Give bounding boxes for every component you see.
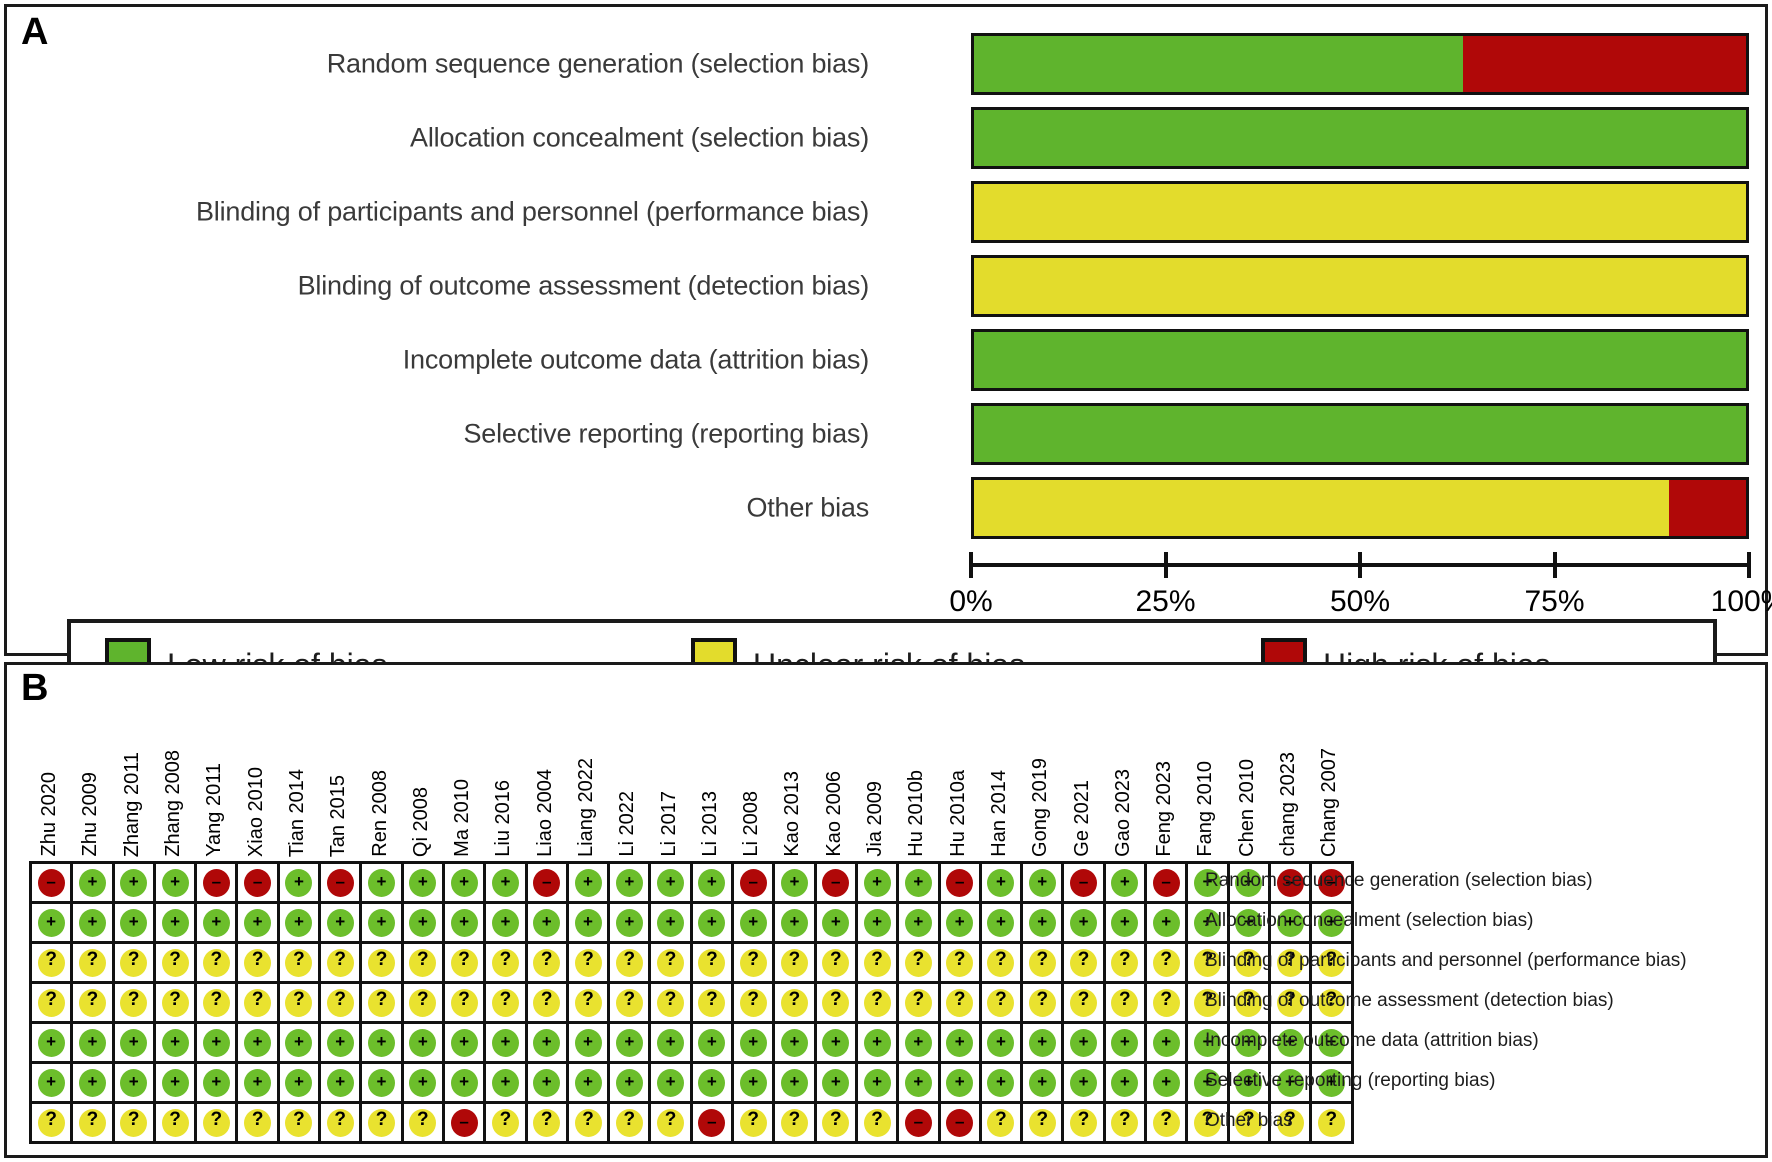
study-header-label: Yang 2011 [203,763,226,857]
matrix-cell[interactable]: – [197,864,238,904]
matrix-cell[interactable]: + [486,1064,527,1104]
matrix-cell[interactable]: + [899,864,940,904]
matrix-cell[interactable]: + [693,864,734,904]
matrix-cell[interactable]: + [115,904,156,944]
matrix-cell[interactable]: + [1064,904,1105,944]
matrix-cell[interactable]: + [32,904,73,944]
risk-glyph: ? [252,990,264,1009]
bar-track [971,255,1749,317]
matrix-cell[interactable]: + [486,904,527,944]
matrix-cell[interactable]: + [651,1064,692,1104]
risk-glyph: – [831,873,840,890]
matrix-cell[interactable]: ? [734,944,775,984]
risk-glyph: – [955,1113,964,1130]
matrix-cell[interactable]: ? [817,984,858,1024]
matrix-cell[interactable]: ? [1023,984,1064,1024]
matrix-cell[interactable]: ? [404,984,445,1024]
risk-dot-high: – [946,1109,973,1137]
matrix-cell[interactable]: + [238,904,279,944]
risk-dot-unclear: ? [575,949,602,977]
risk-glyph: + [624,913,634,930]
matrix-cell[interactable]: + [858,1064,899,1104]
risk-dot-low: + [905,909,932,937]
matrix-cell[interactable]: ? [404,944,445,984]
risk-glyph: ? [45,1110,57,1129]
bar-category-label: Allocation concealment (selection bias) [410,123,869,154]
risk-glyph: + [748,1033,758,1050]
matrix-cell[interactable]: ? [1106,1104,1147,1144]
risk-glyph: + [707,1073,717,1090]
matrix-cell[interactable]: + [982,904,1023,944]
risk-dot-high: – [1153,869,1180,897]
matrix-cell[interactable]: ? [569,984,610,1024]
matrix-cell[interactable]: ? [321,944,362,984]
matrix-cell[interactable]: + [610,1024,651,1064]
matrix-cell[interactable]: – [32,864,73,904]
risk-dot-low: + [162,1069,189,1097]
matrix-cell[interactable]: + [362,904,403,944]
risk-glyph: ? [417,990,429,1009]
risk-glyph: ? [417,950,429,969]
matrix-cell[interactable]: + [445,864,486,904]
matrix-cell[interactable]: + [73,1064,114,1104]
matrix-cell[interactable]: + [156,864,197,904]
risk-dot-low: + [368,1069,395,1097]
matrix-cell[interactable]: + [73,904,114,944]
matrix-cell[interactable]: + [693,1024,734,1064]
risk-dot-low: + [1111,1029,1138,1057]
matrix-cell[interactable]: + [899,1064,940,1104]
risk-dot-unclear: ? [244,989,271,1017]
study-header-label: Gong 2019 [1029,758,1052,857]
matrix-cell[interactable]: ? [486,1104,527,1144]
matrix-cell[interactable]: + [280,864,321,904]
matrix-cell[interactable]: ? [486,984,527,1024]
risk-dot-unclear: ? [905,989,932,1017]
matrix-cell[interactable]: + [651,864,692,904]
matrix-cell[interactable]: + [197,1064,238,1104]
risk-dot-unclear: ? [657,949,684,977]
risk-glyph: ? [913,950,925,969]
matrix-cell[interactable]: + [610,904,651,944]
matrix-cell[interactable]: + [775,1024,816,1064]
matrix-cell[interactable]: ? [941,944,982,984]
matrix-cell[interactable]: + [569,1064,610,1104]
risk-dot-low: + [781,869,808,897]
matrix-cell[interactable]: ? [775,984,816,1024]
risk-dot-low: + [162,909,189,937]
matrix-cell[interactable]: ? [899,984,940,1024]
risk-dot-low: + [1153,1069,1180,1097]
matrix-cell[interactable]: + [362,1024,403,1064]
matrix-cell[interactable]: + [115,864,156,904]
matrix-cell[interactable]: ? [362,1104,403,1144]
matrix-cell[interactable]: ? [73,984,114,1024]
matrix-cell[interactable]: + [404,904,445,944]
risk-dot-low: + [327,909,354,937]
risk-glyph: + [872,873,882,890]
risk-dot-low: + [616,869,643,897]
matrix-cell[interactable]: + [73,864,114,904]
risk-glyph: ? [665,1110,677,1129]
matrix-cell[interactable]: + [651,1024,692,1064]
risk-dot-low: + [492,1069,519,1097]
risk-dot-unclear: ? [905,949,932,977]
matrix-cell[interactable]: ? [32,984,73,1024]
risk-glyph: ? [1119,990,1131,1009]
matrix-cell[interactable]: – [941,1104,982,1144]
matrix-cell[interactable]: – [321,864,362,904]
matrix-cell[interactable]: – [734,864,775,904]
risk-glyph: ? [376,950,388,969]
matrix-cell[interactable]: ? [1106,984,1147,1024]
matrix-cell[interactable]: + [775,904,816,944]
matrix-cell[interactable]: ? [32,1104,73,1144]
risk-dot-unclear: ? [822,989,849,1017]
matrix-cell[interactable]: + [73,1024,114,1064]
matrix-cell[interactable]: – [941,864,982,904]
risk-glyph: + [955,1033,965,1050]
matrix-cell[interactable]: + [445,904,486,944]
risk-dot-unclear: ? [987,1109,1014,1137]
risk-dot-unclear: ? [38,1109,65,1137]
matrix-cell[interactable]: + [1106,864,1147,904]
risk-glyph: ? [252,950,264,969]
matrix-cell[interactable]: ? [1147,1104,1188,1144]
matrix-cell[interactable]: ? [528,944,569,984]
matrix-cell[interactable]: + [1023,904,1064,944]
matrix-cell[interactable]: ? [651,984,692,1024]
risk-dot-low: + [822,1069,849,1097]
matrix-cell[interactable]: + [1147,1064,1188,1104]
matrix-cell[interactable]: ? [651,1104,692,1144]
matrix-cell[interactable]: + [238,1024,279,1064]
risk-dot-unclear: ? [327,1109,354,1137]
matrix-cell[interactable]: + [115,1024,156,1064]
risk-dot-low: + [616,909,643,937]
risk-glyph: ? [45,990,57,1009]
matrix-cell[interactable]: + [32,1064,73,1104]
matrix-cell[interactable]: + [404,1024,445,1064]
bar-category-label: Blinding of outcome assessment (detectio… [298,271,869,302]
risk-glyph: ? [623,1110,635,1129]
matrix-cell[interactable]: ? [280,1104,321,1144]
risk-dot-low: + [905,1069,932,1097]
matrix-cell[interactable]: + [569,864,610,904]
bar-track [971,181,1749,243]
matrix-cell[interactable]: + [528,1024,569,1064]
risk-dot-unclear: ? [616,1109,643,1137]
matrix-cell[interactable]: ? [651,944,692,984]
matrix-cell[interactable]: + [280,1024,321,1064]
risk-glyph: ? [417,1110,429,1129]
matrix-cell[interactable]: + [817,1024,858,1064]
matrix-cell[interactable]: ? [115,1104,156,1144]
risk-dot-low: + [203,1069,230,1097]
risk-glyph: + [129,913,139,930]
risk-glyph: ? [87,950,99,969]
matrix-cell[interactable]: + [404,864,445,904]
study-header: Liang 2022 [566,689,607,857]
matrix-cell[interactable]: – [693,1104,734,1144]
matrix-cell[interactable]: + [321,904,362,944]
risk-dot-unclear: ? [1070,949,1097,977]
study-header: Zhu 2009 [70,689,111,857]
matrix-cell[interactable]: ? [197,944,238,984]
study-header-label: Zhang 2011 [121,752,144,857]
matrix-cell[interactable]: ? [899,944,940,984]
matrix-cell[interactable]: + [651,904,692,944]
matrix-cell[interactable]: + [486,1024,527,1064]
risk-glyph: ? [87,1110,99,1129]
domain-row-label: Allocation concealment (selection bias) [1205,901,1687,941]
matrix-cell[interactable]: ? [734,1104,775,1144]
matrix-cell[interactable]: + [1064,1024,1105,1064]
risk-dot-unclear: ? [1153,1109,1180,1137]
matrix-cell[interactable]: + [899,1024,940,1064]
matrix-cell[interactable]: + [197,904,238,944]
risk-glyph: + [790,913,800,930]
matrix-cell[interactable]: ? [528,1104,569,1144]
matrix-cell[interactable]: ? [817,944,858,984]
matrix-cell[interactable]: ? [445,944,486,984]
matrix-cell[interactable]: ? [693,984,734,1024]
risk-glyph: ? [169,1110,181,1129]
matrix-cell[interactable]: + [858,1024,899,1064]
risk-dot-low: + [368,1029,395,1057]
matrix-cell[interactable]: ? [238,944,279,984]
risk-dot-unclear: ? [203,989,230,1017]
risk-dot-low: + [698,869,725,897]
study-header: Xiao 2010 [235,689,276,857]
matrix-cell[interactable]: + [610,864,651,904]
matrix-cell[interactable]: + [197,1024,238,1064]
matrix-cell[interactable]: ? [610,944,651,984]
matrix-cell[interactable]: + [1106,1024,1147,1064]
matrix-cell[interactable]: + [610,1064,651,1104]
matrix-cell[interactable]: + [238,1064,279,1104]
matrix-cell[interactable]: + [941,1064,982,1104]
matrix-cell[interactable]: ? [982,984,1023,1024]
risk-dot-high: – [905,1109,932,1137]
matrix-row: ++++++++++++++++++++++++++++++++ [32,1064,1354,1104]
matrix-cell[interactable]: ? [115,944,156,984]
domain-row-label: Incomplete outcome data (attrition bias) [1205,1021,1687,1061]
matrix-cell[interactable]: ? [817,1104,858,1144]
matrix-cell[interactable]: + [569,1024,610,1064]
matrix-cell[interactable]: + [941,1024,982,1064]
study-header-label: Tian 2014 [286,769,309,857]
study-header-label: Li 2013 [699,791,722,857]
matrix-cell[interactable]: ? [734,984,775,1024]
risk-glyph: + [872,913,882,930]
matrix-cell[interactable]: + [1023,864,1064,904]
bar-row: Other bias [7,477,1765,539]
risk-dot-low: + [1111,909,1138,937]
matrix-cell[interactable]: – [1147,864,1188,904]
matrix-cell[interactable]: ? [569,944,610,984]
matrix-cell[interactable]: + [775,864,816,904]
matrix-cell[interactable]: – [817,864,858,904]
matrix-cell[interactable]: ? [73,1104,114,1144]
risk-dot-low: + [657,869,684,897]
matrix-cell[interactable]: + [982,1024,1023,1064]
matrix-cell[interactable]: ? [197,1104,238,1144]
risk-dot-unclear: ? [1029,1109,1056,1137]
matrix-cell[interactable]: + [115,1064,156,1104]
risk-dot-low: + [1029,909,1056,937]
matrix-cell[interactable]: ? [1147,984,1188,1024]
matrix-cell[interactable]: ? [404,1104,445,1144]
matrix-cell[interactable]: ? [32,944,73,984]
matrix-cell[interactable]: + [734,1064,775,1104]
matrix-cell[interactable]: ? [280,984,321,1024]
matrix-cell[interactable]: ? [610,984,651,1024]
risk-glyph: + [542,913,552,930]
matrix-cell[interactable]: + [362,864,403,904]
risk-dot-unclear: ? [203,949,230,977]
matrix-cell[interactable]: – [1064,864,1105,904]
matrix-cell[interactable]: + [486,864,527,904]
matrix-cell[interactable]: ? [693,944,734,984]
matrix-cell[interactable]: + [858,864,899,904]
risk-dot-low: + [120,909,147,937]
matrix-cell[interactable]: ? [1064,984,1105,1024]
risk-dot-unclear: ? [162,949,189,977]
matrix-cell[interactable]: ? [486,944,527,984]
matrix-cell[interactable]: + [362,1064,403,1104]
matrix-cell[interactable]: ? [321,984,362,1024]
matrix-cell[interactable]: ? [858,944,899,984]
matrix-cell[interactable]: ? [858,1104,899,1144]
matrix-cell[interactable]: + [321,1064,362,1104]
matrix-cell[interactable]: – [238,864,279,904]
matrix-cell[interactable]: + [1023,1024,1064,1064]
matrix-cell[interactable]: + [775,1064,816,1104]
matrix-cell[interactable]: + [941,904,982,944]
risk-glyph: + [1161,913,1171,930]
matrix-cell[interactable]: + [156,904,197,944]
matrix-cell[interactable]: + [858,904,899,944]
matrix-cell[interactable]: ? [982,944,1023,984]
matrix-cell[interactable]: ? [569,1104,610,1144]
matrix-cell[interactable]: ? [238,1104,279,1144]
matrix-cell[interactable]: + [280,1064,321,1104]
matrix-cell[interactable]: ? [775,944,816,984]
matrix-cell[interactable]: ? [1064,1104,1105,1144]
matrix-cell[interactable]: – [528,864,569,904]
risk-glyph: + [459,1033,469,1050]
risk-glyph: ? [582,1110,594,1129]
matrix-cell[interactable]: ? [610,1104,651,1144]
matrix-cell[interactable]: ? [1147,944,1188,984]
matrix-cell[interactable]: + [1147,1024,1188,1064]
matrix-cell[interactable]: + [734,904,775,944]
matrix-cell[interactable]: ? [1064,944,1105,984]
risk-glyph: – [46,873,55,890]
matrix-cell[interactable]: ? [941,984,982,1024]
matrix-cell[interactable]: ? [445,984,486,1024]
matrix-cell[interactable]: + [32,1024,73,1064]
matrix-cell[interactable]: + [1106,904,1147,944]
matrix-cell[interactable]: ? [362,984,403,1024]
matrix-cell[interactable]: + [528,1064,569,1104]
matrix-cell[interactable]: ? [156,944,197,984]
matrix-cell[interactable]: + [445,1064,486,1104]
risk-dot-low: + [946,1069,973,1097]
matrix-cell[interactable]: + [899,904,940,944]
matrix-cell[interactable]: ? [775,1104,816,1144]
matrix-cell[interactable]: + [321,1024,362,1064]
bar-segment-high [1463,36,1746,92]
study-header-label: Liao 2004 [534,769,557,857]
matrix-cell[interactable]: + [280,904,321,944]
matrix-cell[interactable]: ? [1106,944,1147,984]
study-column-headers: Zhu 2020Zhu 2009Zhang 2011Zhang 2008Yang… [29,689,1351,857]
matrix-cell[interactable]: ? [238,984,279,1024]
matrix-cell[interactable]: + [734,1024,775,1064]
matrix-cell[interactable]: ? [1023,944,1064,984]
matrix-cell[interactable]: + [817,904,858,944]
risk-of-bias-matrix: –+++––+–++++–++++–+–++–++–+–++––++++++++… [29,861,1354,1144]
risk-dot-low: + [657,1029,684,1057]
matrix-cell[interactable]: ? [197,984,238,1024]
x-axis: 0%25%50%75%100% [971,563,1749,567]
risk-glyph: + [872,1073,882,1090]
matrix-cell[interactable]: + [982,1064,1023,1104]
matrix-cell[interactable]: ? [321,1104,362,1144]
study-header-label: Gao 2023 [1112,769,1135,857]
matrix-cell[interactable]: – [445,1104,486,1144]
matrix-cell[interactable]: ? [280,944,321,984]
study-header: Fang 2010 [1185,689,1226,857]
matrix-cell[interactable]: + [1023,1064,1064,1104]
matrix-cell[interactable]: + [156,1024,197,1064]
matrix-cell[interactable]: ? [982,1104,1023,1144]
matrix-cell[interactable]: ? [528,984,569,1024]
matrix-cell[interactable]: ? [858,984,899,1024]
risk-dot-unclear: ? [1070,989,1097,1017]
matrix-cell[interactable]: + [982,864,1023,904]
risk-dot-unclear: ? [946,989,973,1017]
matrix-cell[interactable]: ? [1023,1104,1064,1144]
matrix-cell[interactable]: + [528,904,569,944]
study-header-label: Liang 2022 [575,758,598,857]
risk-glyph: + [211,1033,221,1050]
matrix-cell[interactable]: ? [362,944,403,984]
matrix-cell[interactable]: + [1106,1064,1147,1104]
matrix-cell[interactable]: + [1147,904,1188,944]
matrix-cell[interactable]: ? [156,984,197,1024]
risk-glyph: + [872,1033,882,1050]
matrix-cell[interactable]: + [693,904,734,944]
risk-dot-low: + [285,1029,312,1057]
risk-of-bias-figure: A Random sequence generation (selection … [0,0,1772,1162]
matrix-cell[interactable]: – [899,1104,940,1144]
matrix-cell[interactable]: + [404,1064,445,1104]
matrix-cell[interactable]: + [156,1064,197,1104]
risk-glyph: + [129,873,139,890]
matrix-cell[interactable]: + [569,904,610,944]
matrix-cell[interactable]: ? [156,1104,197,1144]
matrix-cell[interactable]: ? [73,944,114,984]
matrix-cell[interactable]: + [445,1024,486,1064]
matrix-cell[interactable]: ? [115,984,156,1024]
risk-dot-low: + [905,1029,932,1057]
matrix-cell[interactable]: + [817,1064,858,1104]
matrix-cell[interactable]: + [693,1064,734,1104]
matrix-cell[interactable]: + [1064,1064,1105,1104]
